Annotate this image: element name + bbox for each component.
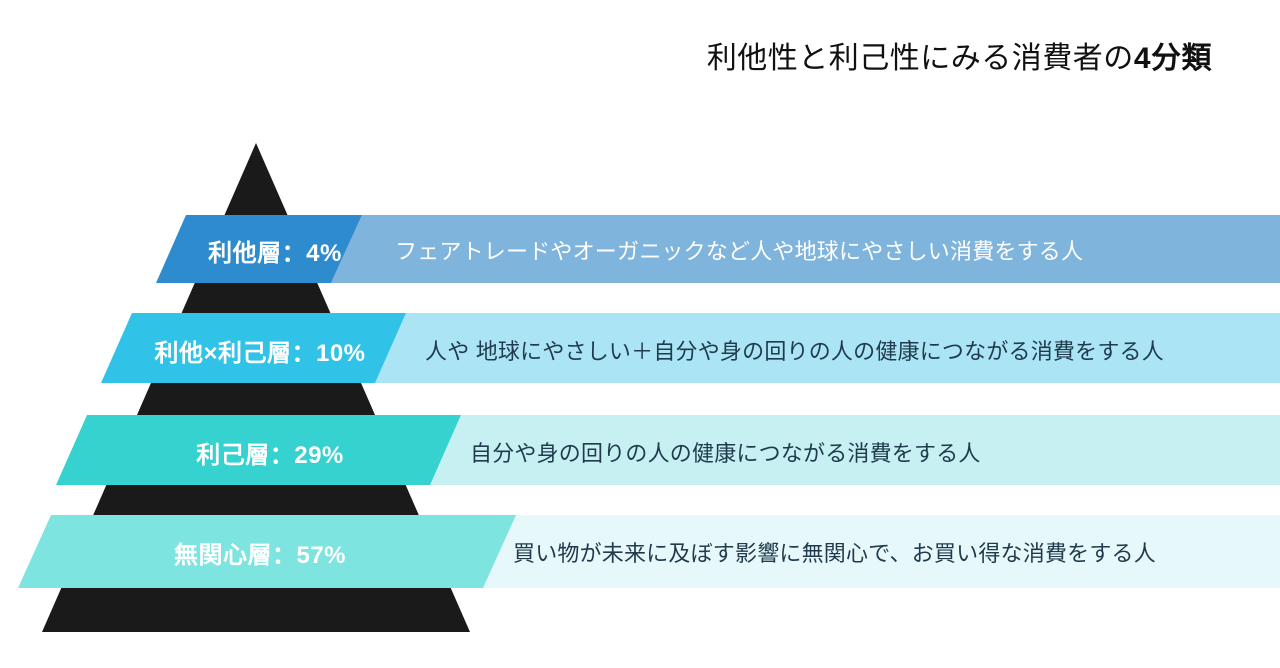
tier-3-description: 自分や身の回りの人の健康につながる消費をする人 [470,436,981,468]
tier-2-description: 人や 地球にやさしい＋自分や身の回りの人の健康につながる消費をする人 [425,334,1164,366]
tier-4-label: 無関心層：57% [85,535,435,570]
tier-4-description: 買い物が未来に及ぼす影響に無関心で、お買い得な消費をする人 [513,536,1156,568]
infographic-canvas: 利他性と利己性にみる消費者の4分類 利他層：4% フェアトレードやオーガニックな… [0,0,1280,668]
tier-3-label: 利己層：29% [105,435,435,470]
tier-1-label: 利他層：4% [180,233,370,268]
tier-1-description: フェアトレードやオーガニックなど人や地球にやさしい消費をする人 [395,234,1083,266]
tier-2-label: 利他×利己層：10% [115,333,405,368]
